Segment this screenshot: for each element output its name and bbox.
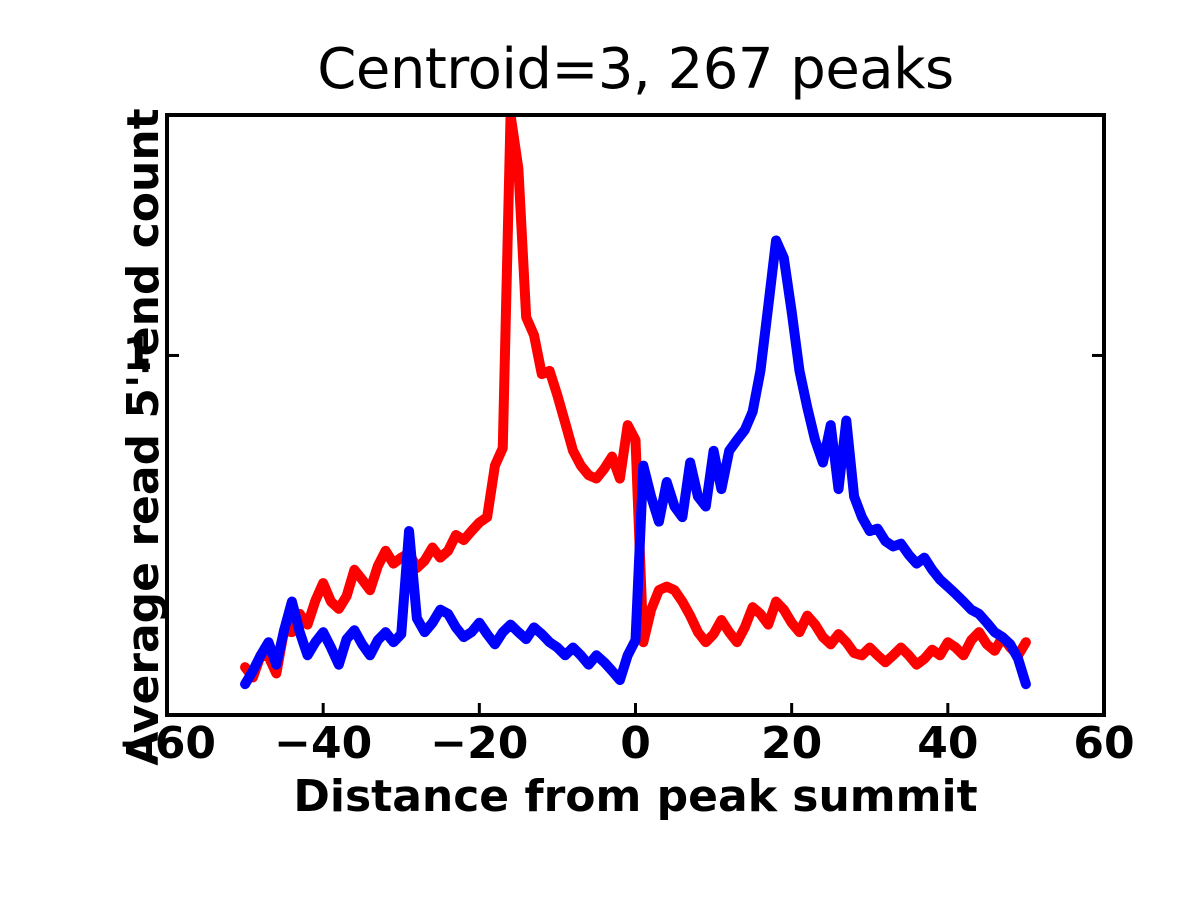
figure: Centroid=3, 267 peaks Average read 5'-en…	[0, 0, 1200, 900]
plot-canvas	[0, 0, 1200, 900]
